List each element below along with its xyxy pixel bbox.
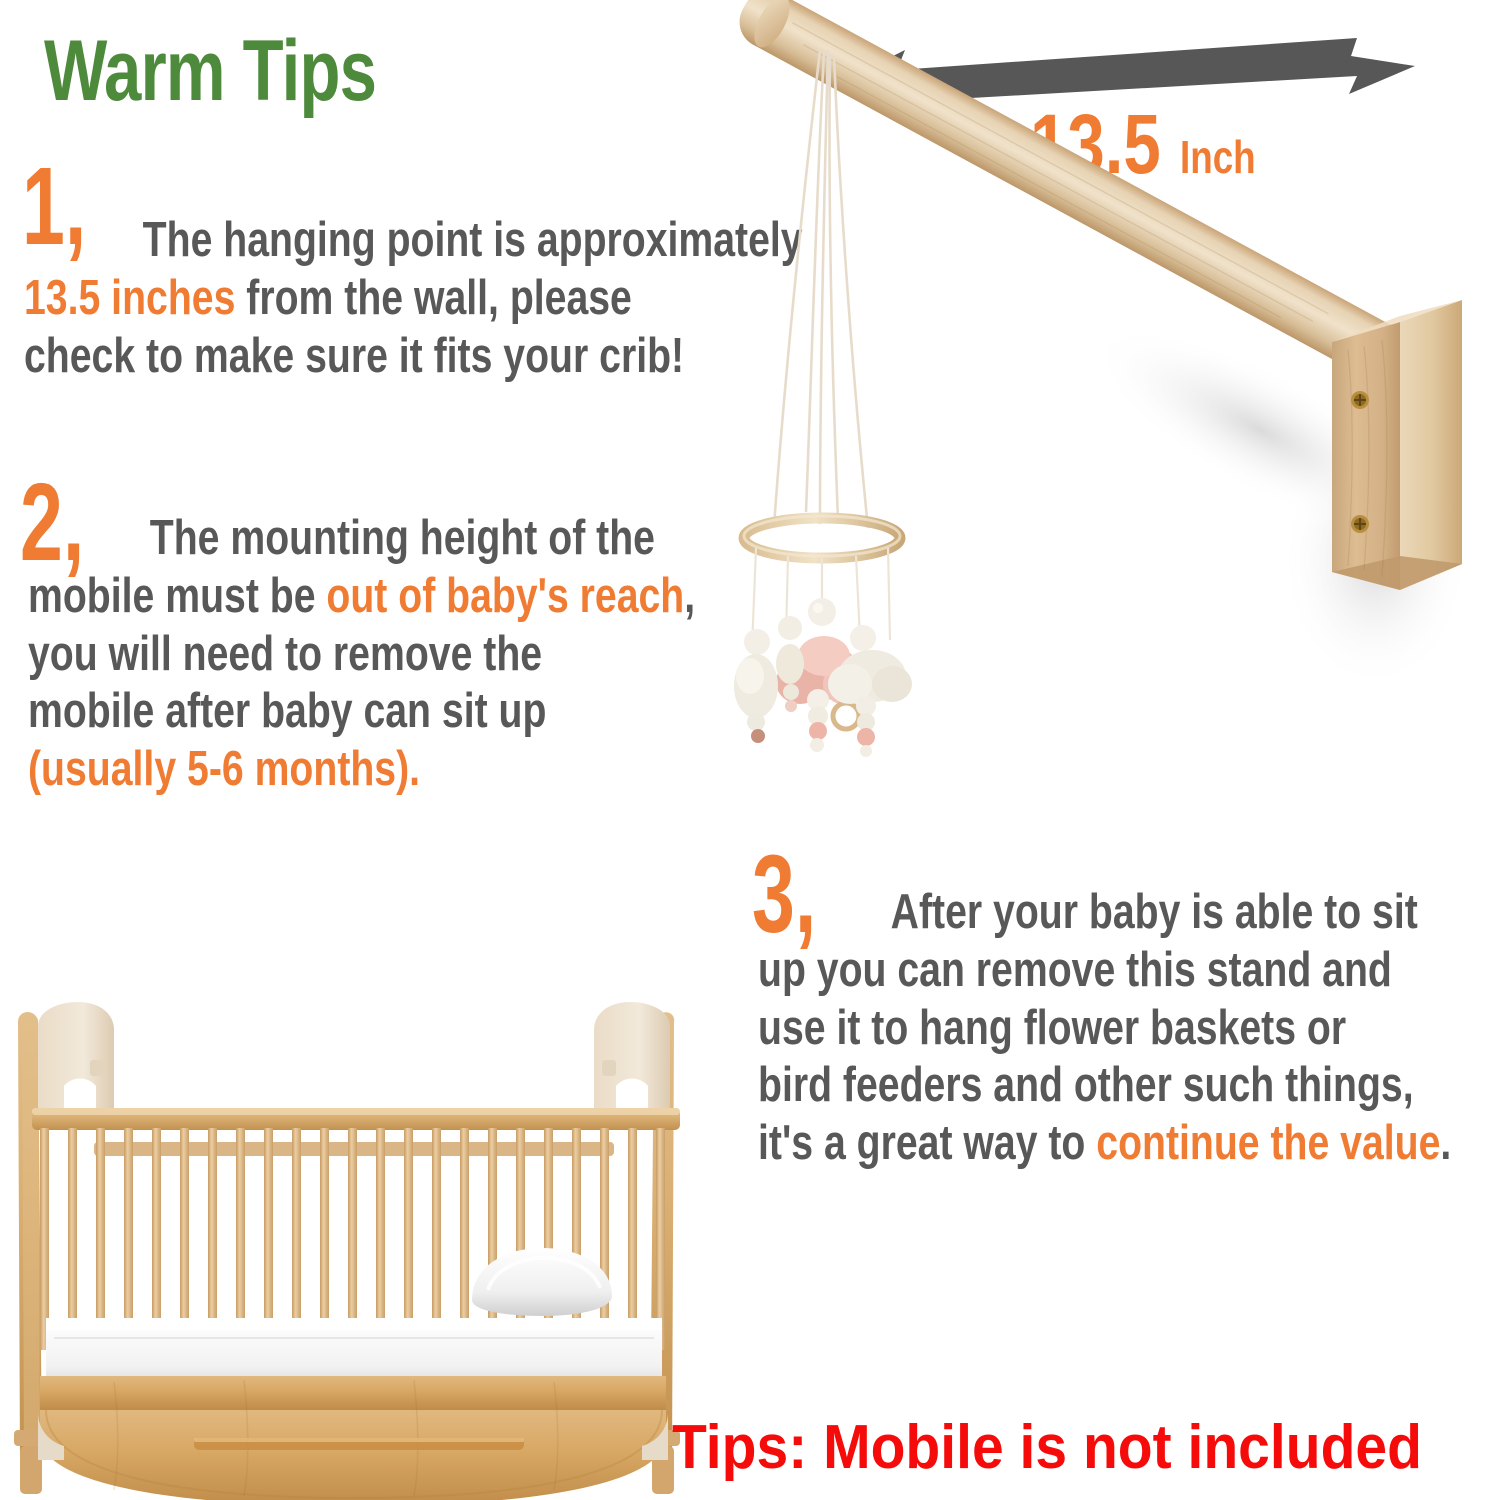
mobile-not-included-note: Tips: Mobile is not included — [672, 1412, 1422, 1483]
warm-tips-infographic: Warm Tips 1, The hanging point is approx… — [0, 0, 1500, 1500]
tip-3-text: After your baby is able to sit up you ca… — [858, 884, 1500, 1173]
tip-2-line-1: The mounting height of the — [128, 510, 736, 568]
mobile-hanging-strings — [774, 50, 868, 528]
wall-mounting-plate — [1332, 300, 1462, 590]
crib-headboard-right — [594, 1002, 670, 1112]
tip-1-line-2: 13.5 inches from the wall, please — [24, 270, 733, 328]
tip-2-line-4: mobile after baby can sit up — [28, 683, 716, 741]
crib-top-rail-highlight — [32, 1108, 680, 1115]
wall-mount-mobile-arm-image — [700, 0, 1500, 790]
tip-3-line-5: it's a great way to continue the value. — [758, 1115, 1398, 1173]
tip-1-line-3: check to make sure it fits your crib! — [24, 328, 733, 386]
tip-2-line-5: (usually 5-6 months). — [28, 741, 716, 799]
tip-2-line-2: mobile must be out of baby's reach, — [28, 568, 716, 626]
tip-3-number: 3, — [752, 840, 816, 950]
crib-front-panel — [40, 1376, 666, 1500]
tip-2-number: 2, — [20, 468, 84, 578]
tip-3-line-1: After your baby is able to sit — [858, 884, 1418, 942]
tip-3-line-2: up you can remove this stand and — [758, 942, 1398, 1000]
crib-headboard-left — [38, 1002, 114, 1112]
tip-3-line-4: bird feeders and other such things, — [758, 1057, 1398, 1115]
screw-icon — [1351, 391, 1369, 409]
tip-1-number: 1, — [22, 152, 86, 262]
page-title: Warm Tips — [44, 28, 376, 114]
mobile-felt-charms — [734, 598, 912, 757]
tip-2-line-3: you will need to remove the — [28, 626, 716, 684]
baby-crib-image — [0, 990, 714, 1500]
tip-1-line-1: The hanging point is approximately — [110, 212, 750, 270]
mobile-wooden-ring — [744, 516, 900, 558]
screw-icon — [1351, 515, 1369, 533]
tip-3-line-3: use it to hang flower baskets or — [758, 1000, 1398, 1058]
crib-mattress — [46, 1318, 662, 1386]
